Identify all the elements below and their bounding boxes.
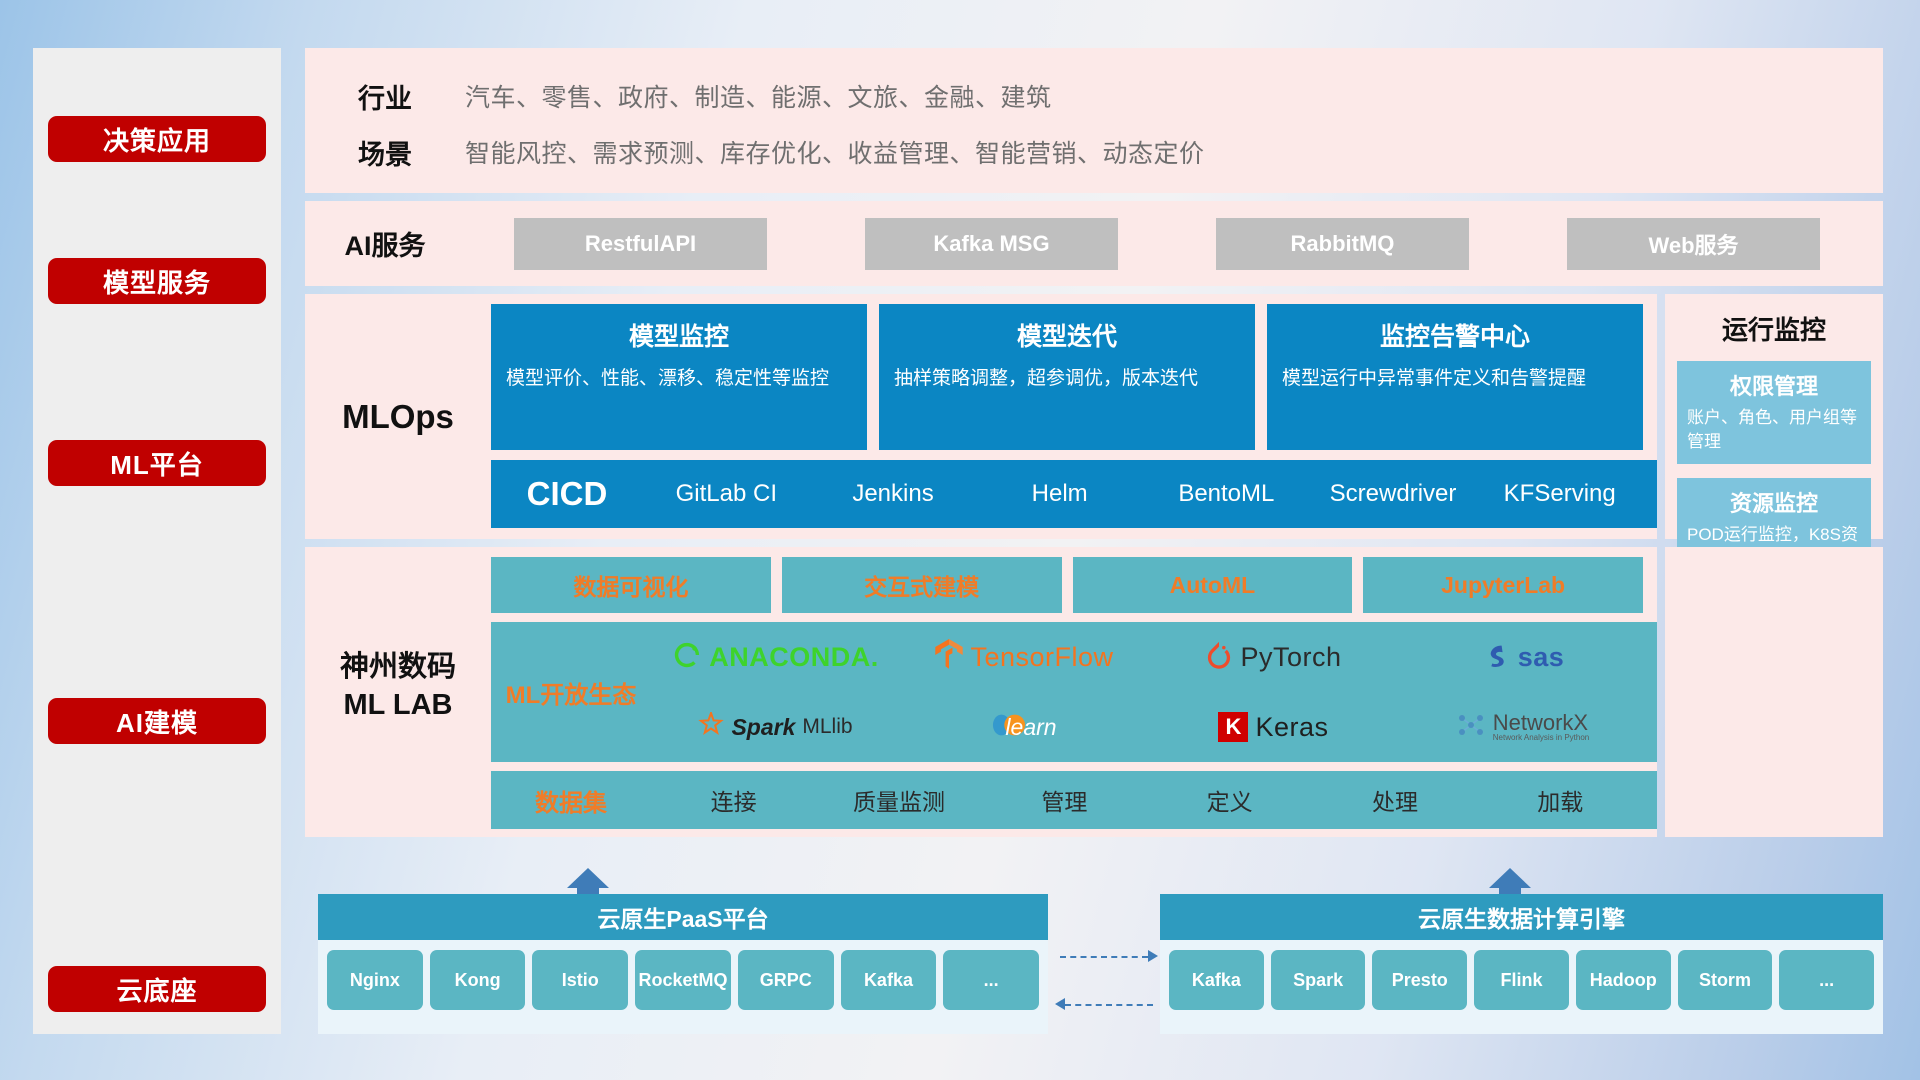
ml-lab-key-line1: 神州数码	[340, 649, 456, 687]
logo-spark-mllib: Spark MLlib	[698, 712, 852, 743]
ai-service-band: AI服务 RestfulAPI Kafka MSG RabbitMQ Web服务	[305, 201, 1883, 286]
chip-storm[interactable]: Storm	[1678, 950, 1773, 1010]
dataset-item-connect[interactable]: 连接	[651, 783, 816, 817]
logo-label: ANACONDA.	[709, 642, 879, 673]
card-title: 监控告警中心	[1282, 317, 1628, 353]
mlops-card-alert-center[interactable]: 监控告警中心 模型运行中异常事件定义和告警提醒	[1267, 304, 1643, 450]
layer-rail: 决策应用 模型服务 ML平台 AI建模 云底座	[33, 48, 281, 1034]
logo-anaconda: ANACONDA.	[672, 640, 879, 675]
mlops-left: MLOps 模型监控 模型评价、性能、漂移、稳定性等监控 模型迭代 抽样策略调整…	[305, 294, 1657, 539]
lab-tool-list: 数据可视化 交互式建模 AutoML JupyterLab	[491, 557, 1657, 613]
cicd-item-helm[interactable]: Helm	[976, 480, 1143, 508]
logo-networkx: NetworkX Network Analysis in Python	[1456, 711, 1590, 744]
scenario-row: 场景 智能风控、需求预测、库存优化、收益管理、智能营销、动态定价	[305, 124, 1883, 180]
spark-icon	[698, 712, 724, 743]
cicd-item-gitlab-ci[interactable]: GitLab CI	[643, 480, 810, 508]
logo-label: TensorFlow	[970, 642, 1113, 673]
service-cell: RabbitMQ	[1167, 218, 1518, 270]
cloud-data-engine-title: 云原生数据计算引擎	[1160, 894, 1883, 940]
cloud-foundation: 云原生PaaS平台 Nginx Kong Istio RocketMQ GRPC…	[305, 868, 1883, 1034]
chip-hadoop[interactable]: Hadoop	[1576, 950, 1671, 1010]
dataset-row: 数据集 连接 质量监测 管理 定义 处理 加载	[491, 771, 1657, 829]
rail-label: AI建模	[116, 703, 198, 740]
cicd-item-screwdriver[interactable]: Screwdriver	[1310, 480, 1477, 508]
ml-lab-key-line2: ML LAB	[343, 687, 452, 725]
industry-key: 行业	[305, 77, 465, 116]
monitor-panel-title: 运行监控	[1665, 294, 1883, 347]
tensorflow-icon	[935, 639, 963, 676]
dataset-item-quality[interactable]: 质量监测	[816, 783, 981, 817]
dashed-line-right	[1060, 956, 1148, 958]
card-desc: 模型评价、性能、漂移、稳定性等监控	[506, 365, 852, 393]
service-chip-web[interactable]: Web服务	[1567, 218, 1820, 270]
ecosystem-label: ML开放生态	[491, 675, 651, 710]
lab-tool-data-visualization[interactable]: 数据可视化	[491, 557, 771, 613]
logo-scikit-learn: learn	[992, 711, 1056, 744]
industry-value: 汽车、零售、政府、制造、能源、文旅、金融、建筑	[465, 78, 1052, 114]
service-chip-restfulapi[interactable]: RestfulAPI	[514, 218, 767, 270]
dashed-arrow-left	[1055, 998, 1065, 1010]
keras-icon: K	[1218, 712, 1248, 742]
logo-keras: K Keras	[1218, 712, 1328, 743]
chip-presto[interactable]: Presto	[1372, 950, 1467, 1010]
keras-mark: K	[1226, 714, 1242, 740]
logo-label: Keras	[1255, 712, 1328, 743]
cicd-item-bentoml[interactable]: BentoML	[1143, 480, 1310, 508]
mlops-card-model-monitor[interactable]: 模型监控 模型评价、性能、漂移、稳定性等监控	[491, 304, 867, 450]
chip-flink[interactable]: Flink	[1474, 950, 1569, 1010]
card-desc: 抽样策略调整，超参调优，版本迭代	[894, 365, 1240, 393]
cicd-bar: CICD GitLab CI Jenkins Helm BentoML Scre…	[491, 460, 1657, 528]
rail-label: 模型服务	[103, 263, 211, 300]
logo-pytorch: PyTorch	[1205, 640, 1341, 675]
logo-grid: ANACONDA. TensorFlow PyT	[651, 622, 1647, 762]
chip-kafka[interactable]: Kafka	[841, 950, 937, 1010]
card-title: 模型监控	[506, 317, 852, 353]
service-cell: Web服务	[1518, 218, 1869, 270]
logo-label-learn: learn	[1005, 714, 1056, 741]
industry-row: 行业 汽车、零售、政府、制造、能源、文旅、金融、建筑	[305, 68, 1883, 124]
cloud-paas-box: 云原生PaaS平台 Nginx Kong Istio RocketMQ GRPC…	[318, 894, 1048, 1034]
ml-lab-key: 神州数码 ML LAB	[305, 547, 491, 827]
monitor-card-permission[interactable]: 权限管理 账户、角色、用户组等管理	[1677, 361, 1871, 464]
monitor-panel: 运行监控 权限管理 账户、角色、用户组等管理 资源监控 POD运行监控，K8S资…	[1665, 294, 1883, 539]
ml-lab-right-filler	[1665, 547, 1883, 837]
logo-sublabel: Network Analysis in Python	[1493, 734, 1590, 742]
rail-item-decision-app[interactable]: 决策应用	[48, 116, 266, 162]
mlops-key: MLOps	[305, 294, 491, 539]
dashed-line-left	[1065, 1004, 1153, 1006]
ml-open-ecosystem: ML开放生态 ANACONDA.	[491, 622, 1657, 762]
architecture-diagram: 决策应用 模型服务 ML平台 AI建模 云底座 行业 汽车、零售、政府、制造、能…	[0, 0, 1920, 1080]
chip-istio[interactable]: Istio	[532, 950, 628, 1010]
chip-rocketmq[interactable]: RocketMQ	[635, 950, 731, 1010]
logo-label: sas	[1518, 642, 1565, 673]
scenario-key: 场景	[305, 133, 465, 172]
dataset-label: 数据集	[491, 783, 651, 818]
lab-tool-jupyterlab[interactable]: JupyterLab	[1363, 557, 1643, 613]
rail-label: ML平台	[110, 445, 204, 482]
chip-nginx[interactable]: Nginx	[327, 950, 423, 1010]
dataset-item-process[interactable]: 处理	[1312, 783, 1477, 817]
logo-label: NetworkX	[1493, 712, 1590, 734]
chip-grpc[interactable]: GRPC	[738, 950, 834, 1010]
rail-item-ai-modeling[interactable]: AI建模	[48, 698, 266, 744]
logo-tensorflow: TensorFlow	[935, 639, 1113, 676]
chip-kafka-de[interactable]: Kafka	[1169, 950, 1264, 1010]
dataset-item-manage[interactable]: 管理	[982, 783, 1147, 817]
logo-label: PyTorch	[1240, 642, 1341, 673]
application-band: 行业 汽车、零售、政府、制造、能源、文旅、金融、建筑 场景 智能风控、需求预测、…	[305, 48, 1883, 193]
dataset-item-define[interactable]: 定义	[1147, 783, 1312, 817]
ai-service-key: AI服务	[305, 224, 465, 263]
logo-sas: sas	[1481, 640, 1565, 675]
dataset-item-load[interactable]: 加载	[1478, 783, 1643, 817]
rail-item-ml-platform[interactable]: ML平台	[48, 440, 266, 486]
rail-label: 云底座	[116, 971, 197, 1008]
card-title: 权限管理	[1687, 369, 1861, 401]
logo-label-spark: Spark	[731, 714, 795, 741]
pytorch-icon	[1205, 640, 1233, 675]
service-cell: Kafka MSG	[816, 218, 1167, 270]
networkx-icon	[1456, 711, 1486, 744]
chip-more-de[interactable]: ...	[1779, 950, 1874, 1010]
cicd-item-kfserving[interactable]: KFServing	[1476, 480, 1643, 508]
rail-item-model-service[interactable]: 模型服务	[48, 258, 266, 304]
card-title: 资源监控	[1687, 486, 1861, 518]
mlops-card-model-iteration[interactable]: 模型迭代 抽样策略调整，超参调优，版本迭代	[879, 304, 1255, 450]
dashed-arrow-right	[1148, 950, 1158, 962]
cloud-paas-chips: Nginx Kong Istio RocketMQ GRPC Kafka ...	[318, 940, 1048, 1020]
rail-label: 决策应用	[103, 121, 211, 158]
cicd-item-jenkins[interactable]: Jenkins	[810, 480, 977, 508]
lab-tool-automl[interactable]: AutoML	[1073, 557, 1353, 613]
logo-label-mllib: MLlib	[802, 715, 852, 739]
chip-more-paas[interactable]: ...	[943, 950, 1039, 1010]
ml-lab-left: 神州数码 ML LAB 数据可视化 交互式建模 AutoML JupyterLa…	[305, 547, 1657, 837]
ml-lab-band: 神州数码 ML LAB 数据可视化 交互式建模 AutoML JupyterLa…	[305, 547, 1883, 837]
cicd-title: CICD	[491, 475, 643, 513]
service-chip-kafka-msg[interactable]: Kafka MSG	[865, 218, 1118, 270]
cloud-data-engine-chips: Kafka Spark Presto Flink Hadoop Storm ..…	[1160, 940, 1883, 1020]
cloud-data-engine-box: 云原生数据计算引擎 Kafka Spark Presto Flink Hadoo…	[1160, 894, 1883, 1034]
service-chip-rabbitmq[interactable]: RabbitMQ	[1216, 218, 1469, 270]
chip-spark-de[interactable]: Spark	[1271, 950, 1366, 1010]
card-title: 模型迭代	[894, 317, 1240, 353]
sas-icon	[1481, 640, 1511, 675]
mlops-band: MLOps 模型监控 模型评价、性能、漂移、稳定性等监控 模型迭代 抽样策略调整…	[305, 294, 1883, 539]
card-desc: 账户、角色、用户组等管理	[1687, 406, 1861, 454]
rail-item-cloud-base[interactable]: 云底座	[48, 966, 266, 1012]
mlops-card-list: 模型监控 模型评价、性能、漂移、稳定性等监控 模型迭代 抽样策略调整，超参调优，…	[491, 304, 1657, 450]
lab-tool-interactive-modeling[interactable]: 交互式建模	[782, 557, 1062, 613]
main-column: 行业 汽车、零售、政府、制造、能源、文旅、金融、建筑 场景 智能风控、需求预测、…	[305, 48, 1883, 837]
service-cell: RestfulAPI	[465, 218, 816, 270]
chip-kong[interactable]: Kong	[430, 950, 526, 1010]
anaconda-icon	[672, 640, 702, 675]
ai-service-items: RestfulAPI Kafka MSG RabbitMQ Web服务	[465, 218, 1883, 270]
card-desc: 模型运行中异常事件定义和告警提醒	[1282, 365, 1628, 393]
cloud-paas-title: 云原生PaaS平台	[318, 894, 1048, 940]
scenario-value: 智能风控、需求预测、库存优化、收益管理、智能营销、动态定价	[465, 134, 1205, 170]
